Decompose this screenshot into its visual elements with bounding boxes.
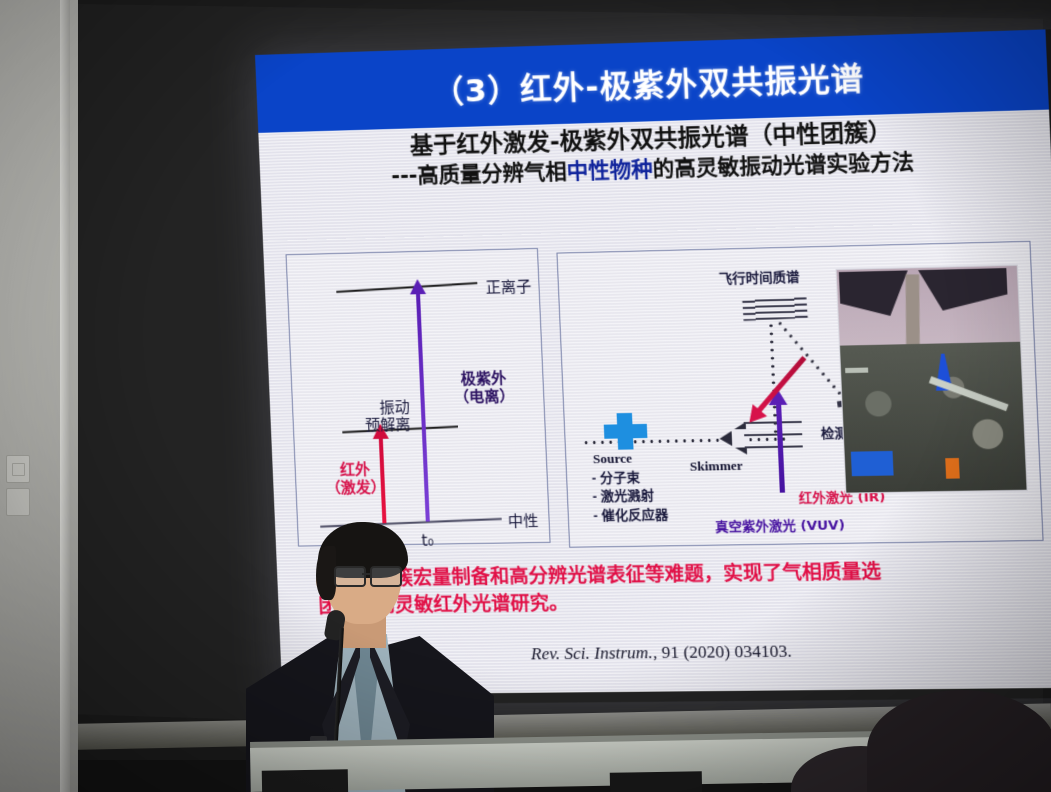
photo-metal-bar-2 xyxy=(845,368,868,374)
citation-journal: Rev. Sci. Instrum. xyxy=(531,643,654,664)
label-vuv-laser: 真空紫外激光 (VUV) xyxy=(715,514,845,535)
label-positive-ion: 正离子 xyxy=(485,275,532,297)
label-tof-mass-spectrometer: 飞行时间质谱 xyxy=(718,266,800,287)
lecture-hall-photo: （3）红外-极紫外双共振光谱 基于红外激发-极紫外双共振光谱（中性团簇） ---… xyxy=(0,0,1051,792)
wall-edge xyxy=(60,0,70,792)
source-item-list: - 分子束 - 激光溅射 - 催化反应器 xyxy=(591,468,668,525)
slide-title: （3）红外-极紫外双共振光谱 xyxy=(431,52,865,111)
photo-orange-part xyxy=(945,458,960,479)
vuv-arrow xyxy=(416,292,430,521)
power-socket-lower-icon xyxy=(6,488,30,516)
apparatus-photograph xyxy=(836,265,1028,494)
desk-panel-left xyxy=(262,769,349,792)
label-source: Source xyxy=(593,450,633,467)
extraction-plates-icon xyxy=(557,242,1029,254)
citation-rest: , 91 (2020) 034103. xyxy=(652,641,792,662)
desk-panel-right xyxy=(610,771,703,792)
source-item: - 分子束 xyxy=(591,468,667,488)
citation: Rev. Sci. Instrum., 91 (2020) 034103. xyxy=(531,639,1019,665)
label-vuv-line1: 极紫外 xyxy=(453,369,515,388)
glasses-icon xyxy=(334,566,402,584)
label-skimmer: Skimmer xyxy=(689,458,743,475)
label-vuv-line2: （电离） xyxy=(453,387,515,406)
headline-suffix: 的高灵敏振动光谱实验方法 xyxy=(652,149,914,181)
headline-highlight: 中性物种 xyxy=(566,157,653,184)
label-neutral: 中性 xyxy=(507,510,538,532)
label-vibrational-predissociation: 振动 预解离 xyxy=(331,399,411,435)
label-ir-line2: （激发） xyxy=(320,478,391,497)
energy-level-panel: 正离子 振动 预解离 极紫外 （电离） 红外 （激发） 中性 ns t₀ xyxy=(286,248,551,547)
source-icon xyxy=(604,424,648,439)
power-socket-icon xyxy=(6,455,30,483)
label-vuv: 极紫外 （电离） xyxy=(453,369,515,407)
label-ir-line1: 红外 xyxy=(319,460,390,479)
level-positive-ion-line xyxy=(336,282,477,293)
source-item: - 催化反应器 xyxy=(593,506,669,526)
presenter-hair-side xyxy=(316,546,336,600)
source-item: - 激光溅射 xyxy=(592,487,668,507)
headline-prefix: ---高质量分辨气相 xyxy=(391,159,568,188)
tof-detector-icon xyxy=(742,296,808,321)
label-ir: 红外 （激发） xyxy=(319,460,391,497)
skimmer-icon xyxy=(719,422,747,455)
photo-blue-box xyxy=(851,451,894,476)
label-predissociation: 预解离 xyxy=(332,416,411,435)
vuv-laser-arrow xyxy=(776,403,785,493)
